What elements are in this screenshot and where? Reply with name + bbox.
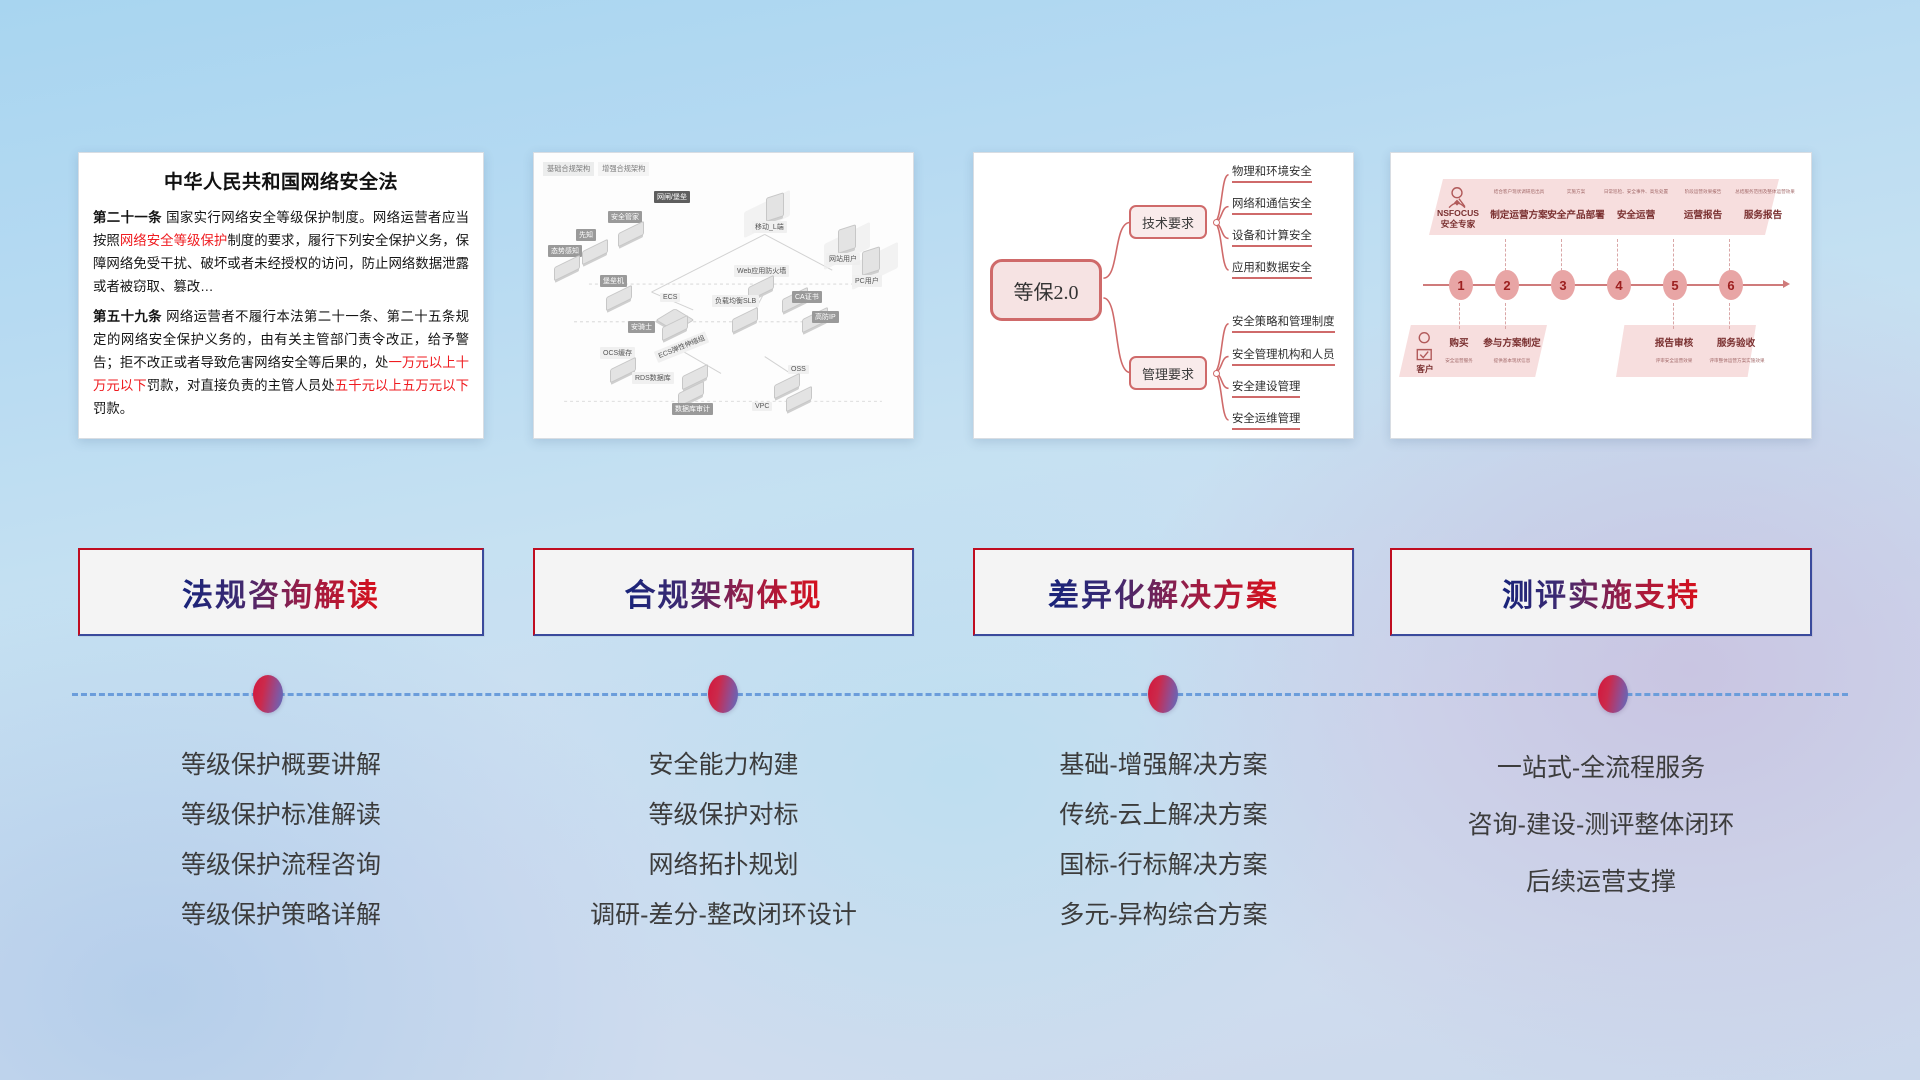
list-item: 传统-云上解决方案	[973, 790, 1354, 840]
list-item: 国标-行标解决方案	[973, 840, 1354, 890]
list-item: 调研-差分-整改闭环设计	[533, 890, 914, 940]
detail-list-evaluation-support: 一站式-全流程服务 咨询-建设-测评整体闭环 后续运营支撑	[1390, 740, 1812, 911]
detail-list-compliance-architecture: 安全能力构建 等级保护对标 网络拓扑规划 调研-差分-整改闭环设计	[533, 740, 914, 940]
detail-list-differentiated-solution: 基础-增强解决方案 传统-云上解决方案 国标-行标解决方案 多元-异构综合方案	[973, 740, 1354, 940]
timeline-dot-1[interactable]	[253, 675, 283, 713]
detail-list-regulation-consulting: 等级保护概要讲解 等级保护标准解读 等级保护流程咨询 等级保护策略详解	[78, 740, 484, 940]
list-item: 一站式-全流程服务	[1390, 740, 1812, 797]
list-item: 基础-增强解决方案	[973, 740, 1354, 790]
list-item: 等级保护概要讲解	[78, 740, 484, 790]
list-item: 等级保护流程咨询	[78, 840, 484, 890]
list-item: 多元-异构综合方案	[973, 890, 1354, 940]
timeline-dot-4[interactable]	[1598, 675, 1628, 713]
list-item: 安全能力构建	[533, 740, 914, 790]
list-item: 等级保护对标	[533, 790, 914, 840]
detail-list-row: 等级保护概要讲解 等级保护标准解读 等级保护流程咨询 等级保护策略详解 安全能力…	[0, 740, 1920, 1020]
list-item: 等级保护标准解读	[78, 790, 484, 840]
timeline-dashed-line	[72, 693, 1848, 696]
timeline-dot-3[interactable]	[1148, 675, 1178, 713]
timeline-dot-2[interactable]	[708, 675, 738, 713]
list-item: 咨询-建设-测评整体闭环	[1390, 797, 1812, 854]
list-item: 等级保护策略详解	[78, 890, 484, 940]
list-item: 网络拓扑规划	[533, 840, 914, 890]
list-item: 后续运营支撑	[1390, 854, 1812, 911]
